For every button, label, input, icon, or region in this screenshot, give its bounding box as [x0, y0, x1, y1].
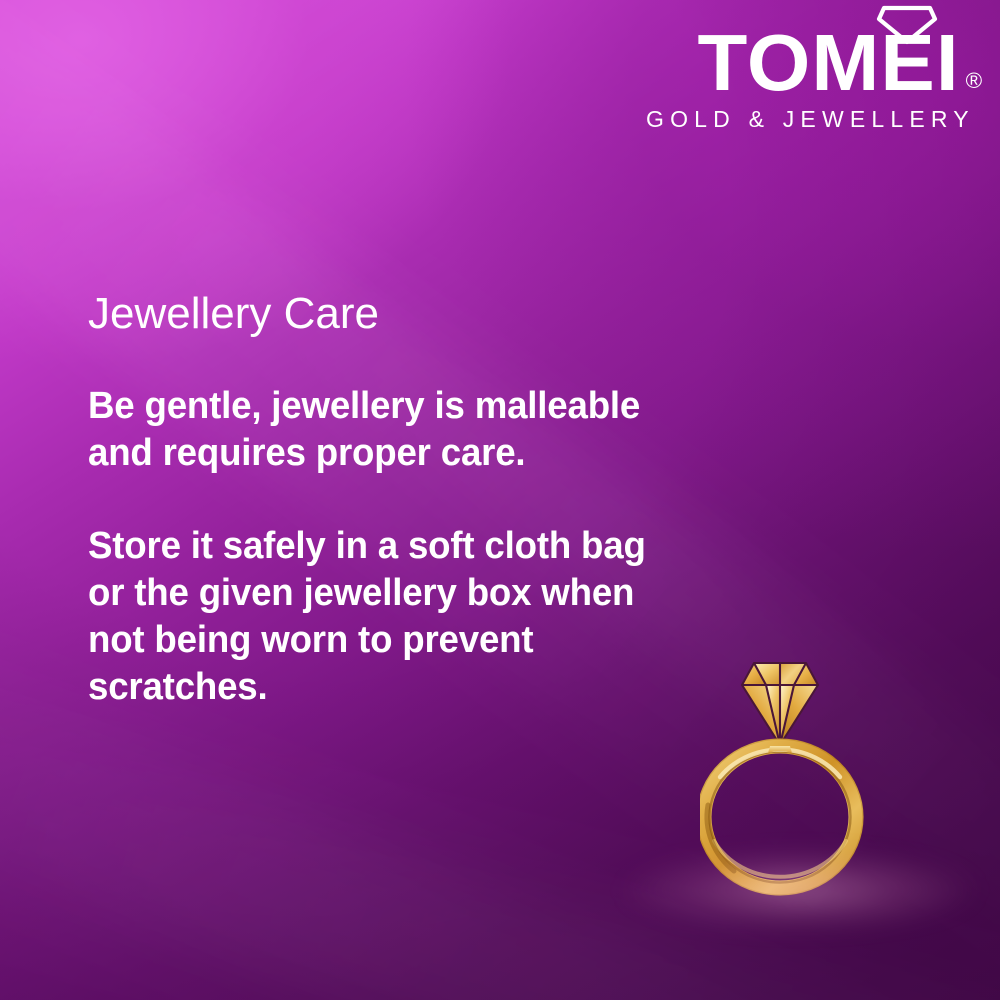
tomei-logo: TOMEI® GOLD & JEWELLERY [646, 14, 976, 133]
logo-tagline: GOLD & JEWELLERY [646, 106, 976, 133]
care-paragraph-2: Store it safely in a soft cloth bag or t… [88, 523, 667, 711]
diamond-ring-illustration [700, 645, 900, 915]
ring-svg [700, 645, 900, 915]
page-title: Jewellery Care [88, 291, 688, 337]
logo-wordmark-text: TOMEI [697, 18, 959, 107]
poster-canvas: TOMEI® GOLD & JEWELLERY Jewellery Care B… [0, 0, 1000, 1000]
logo-wordmark: TOMEI® [697, 26, 976, 100]
ring-band-icon [700, 739, 863, 895]
registered-trademark-symbol: ® [966, 71, 983, 91]
copy-block: Jewellery Care Be gentle, jewellery is m… [88, 291, 688, 711]
care-paragraph-1: Be gentle, jewellery is malleable and re… [88, 383, 667, 477]
gem-icon [742, 663, 818, 745]
logo-wordmark-row: TOMEI® [646, 14, 976, 100]
